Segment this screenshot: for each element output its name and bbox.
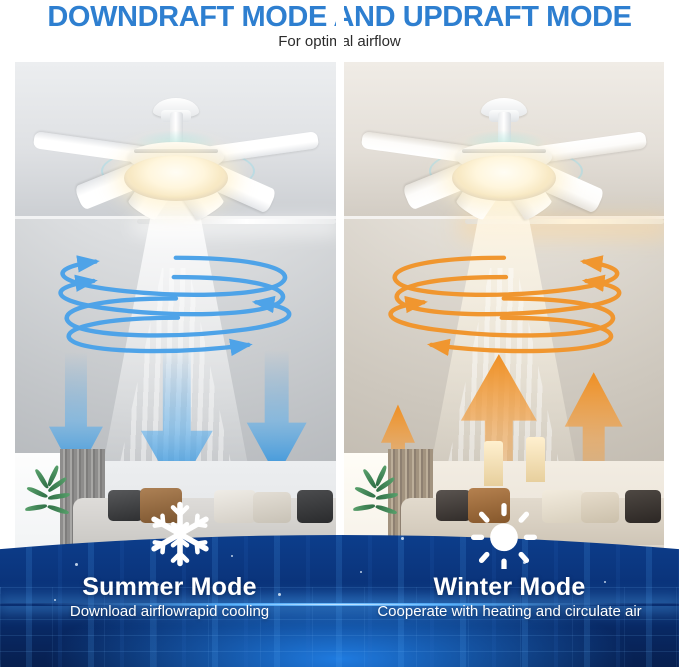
banner-backdrop [0,467,679,667]
sun-icon [471,503,541,573]
winter-mode-subtitle: Cooperate with heating and circulate air [340,602,679,621]
fan-led-light [124,155,228,201]
label-winter-mode: Winter Mode Cooperate with heating and c… [340,573,679,621]
winter-mode-title: Winter Mode [340,573,679,601]
ceiling-fan [26,86,326,216]
label-summer-mode: Summer Mode Download airflowrapid coolin… [0,573,339,621]
summer-mode-title: Summer Mode [0,573,339,601]
fan-hub-trim [134,149,218,153]
fan-hub-trim [462,149,546,153]
snowflake-icon [145,499,215,569]
mode-banner: Summer Mode Download airflowrapid coolin… [0,467,679,667]
fan-led-light [452,155,556,201]
banner-particles [0,467,679,667]
ceiling-fan [354,86,654,216]
summer-mode-subtitle: Download airflowrapid cooling [0,602,339,621]
swirl-arrows-updraft [353,250,655,347]
swirl-arrows-downdraft [25,250,327,347]
